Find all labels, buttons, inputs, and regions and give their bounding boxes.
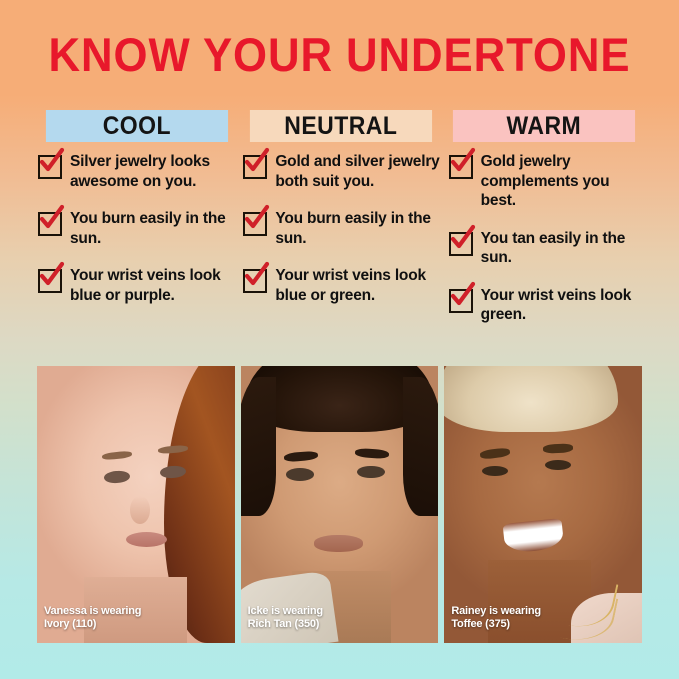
list-item-label: You tan easily in the sun.: [481, 229, 648, 268]
column-header-neutral: NEUTRAL: [250, 110, 432, 142]
model-photo-row: Vanessa is wearing Ivory (110) Icke is w…: [37, 366, 642, 643]
checked-checkbox-icon: [243, 269, 267, 293]
model-photo-cool: Vanessa is wearing Ivory (110): [37, 366, 235, 643]
checked-checkbox-icon: [38, 269, 62, 293]
list-item: Gold and silver jewelry both suit you.: [243, 152, 442, 191]
list-item: Silver jewelry looks awesome on you.: [38, 152, 237, 191]
photo-caption-line1: Vanessa is wearing: [44, 605, 141, 618]
eye-left: [482, 466, 508, 476]
smile: [502, 518, 564, 555]
eyebrow-right: [355, 448, 389, 460]
checklist-column-warm: Gold jewelry complements you best. You t…: [449, 152, 648, 347]
eyebrow-left: [284, 450, 318, 462]
list-item-label: Your wrist veins look blue or green.: [275, 266, 442, 305]
column-header-warm: WARM: [453, 110, 635, 142]
checklist-column-neutral: Gold and silver jewelry both suit you. Y…: [243, 152, 442, 347]
eye-left: [286, 468, 314, 481]
list-item-label: Gold jewelry complements you best.: [481, 152, 648, 211]
checked-checkbox-icon: [38, 212, 62, 236]
undertone-infographic: KNOW YOUR UNDERTONE COOL NEUTRAL WARM Si…: [0, 0, 679, 679]
list-item: Your wrist veins look green.: [449, 286, 648, 325]
list-item: You burn easily in the sun.: [38, 209, 237, 248]
checklist-columns: Silver jewelry looks awesome on you. You…: [38, 152, 648, 347]
list-item-label: You burn easily in the sun.: [70, 209, 237, 248]
model-face-neutral: [241, 366, 439, 643]
hair-top: [444, 366, 618, 432]
lips: [126, 532, 168, 547]
photo-caption-line2: Ivory (110): [44, 618, 141, 631]
list-item: You burn easily in the sun.: [243, 209, 442, 248]
checklist-column-cool: Silver jewelry looks awesome on you. You…: [38, 152, 237, 347]
list-item: Your wrist veins look blue or purple.: [38, 266, 237, 305]
eyebrow-left: [479, 447, 509, 459]
photo-caption-line2: Toffee (375): [451, 618, 541, 631]
list-item-label: Your wrist veins look green.: [481, 286, 648, 325]
list-item: You tan easily in the sun.: [449, 229, 648, 268]
model-photo-neutral: Icke is wearing Rich Tan (350): [241, 366, 439, 643]
photo-caption-warm: Rainey is wearing Toffee (375): [451, 605, 541, 631]
list-item-label: Silver jewelry looks awesome on you.: [70, 152, 237, 191]
nose: [130, 496, 150, 524]
hair-right: [403, 377, 439, 516]
list-item-label: Gold and silver jewelry both suit you.: [275, 152, 442, 191]
lips: [314, 535, 363, 552]
list-item-label: Your wrist veins look blue or purple.: [70, 266, 237, 305]
checked-checkbox-icon: [449, 289, 473, 313]
hair-left: [241, 377, 277, 516]
checked-checkbox-icon: [449, 155, 473, 179]
model-face-cool: [37, 366, 235, 643]
checked-checkbox-icon: [243, 212, 267, 236]
model-face-warm: [444, 366, 642, 643]
page-title: KNOW YOUR UNDERTONE: [24, 30, 655, 80]
photo-caption-line1: Icke is wearing: [248, 605, 323, 618]
list-item: Your wrist veins look blue or green.: [243, 266, 442, 305]
eyebrow-right: [543, 443, 573, 453]
model-photo-warm: Rainey is wearing Toffee (375): [444, 366, 642, 643]
checked-checkbox-icon: [243, 155, 267, 179]
hair-left: [37, 366, 116, 599]
photo-caption-line1: Rainey is wearing: [451, 605, 541, 618]
checked-checkbox-icon: [449, 232, 473, 256]
eye-right: [357, 466, 385, 479]
eye-right: [545, 460, 571, 470]
checked-checkbox-icon: [38, 155, 62, 179]
list-item: Gold jewelry complements you best.: [449, 152, 648, 211]
column-header-row: COOL NEUTRAL WARM: [38, 110, 643, 142]
photo-caption-neutral: Icke is wearing Rich Tan (350): [248, 605, 323, 631]
list-item-label: You burn easily in the sun.: [275, 209, 442, 248]
column-header-cool: COOL: [46, 110, 228, 142]
photo-caption-cool: Vanessa is wearing Ivory (110): [44, 605, 141, 631]
photo-caption-line2: Rich Tan (350): [248, 618, 323, 631]
